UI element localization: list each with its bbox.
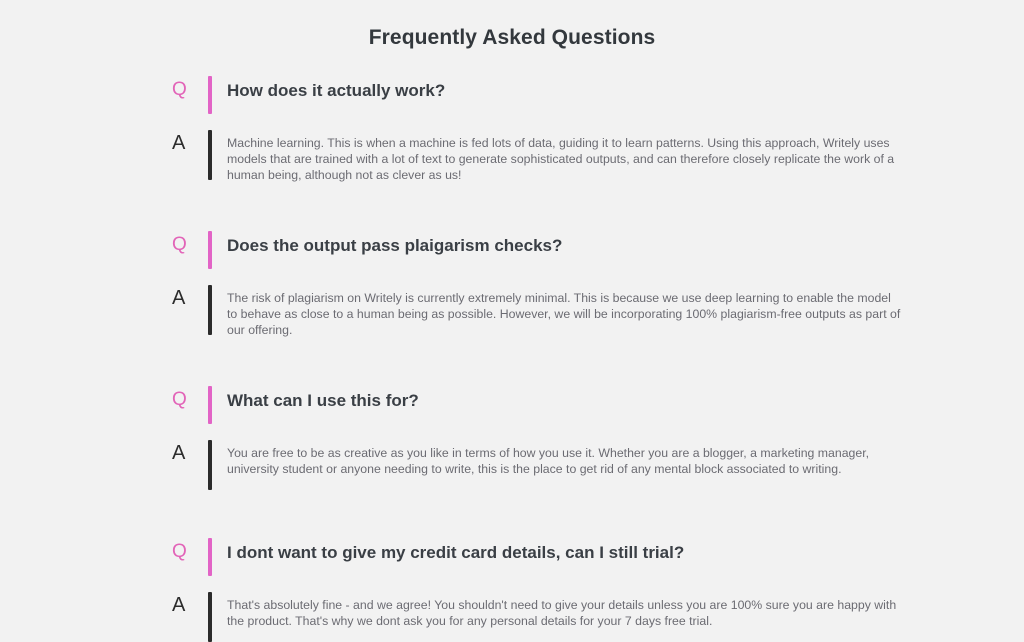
question-marker: Q [164, 235, 187, 254]
faq-answer-row: A The risk of plagiarism on Writely is c… [164, 289, 904, 338]
question-marker-col: Q [164, 390, 208, 409]
answer-content: The risk of plagiarism on Writely is cur… [212, 289, 904, 338]
question-content: What can I use this for? [212, 390, 904, 411]
answer-marker-col: A [164, 444, 208, 463]
question-content: Does the output pass plaigarism checks? [212, 235, 904, 256]
faq-answer-row: A You are free to be as creative as you … [164, 444, 904, 490]
answer-content: You are free to be as creative as you li… [212, 444, 904, 477]
faq-item: Q What can I use this for? A You are fre… [164, 390, 904, 490]
faq-answer-row: A Machine learning. This is when a machi… [164, 134, 904, 183]
answer-marker: A [164, 289, 185, 308]
faq-question-row[interactable]: Q Does the output pass plaigarism checks… [164, 235, 904, 269]
question-marker: Q [164, 80, 187, 99]
faq-answer-row: A That's absolutely fine - and we agree!… [164, 596, 904, 642]
question-content: I dont want to give my credit card detai… [212, 542, 904, 563]
answer-marker-col: A [164, 289, 208, 308]
answer-text: That's absolutely fine - and we agree! Y… [227, 596, 903, 629]
answer-text: The risk of plagiarism on Writely is cur… [227, 289, 903, 338]
answer-content: That's absolutely fine - and we agree! Y… [212, 596, 904, 629]
question-text: Does the output pass plaigarism checks? [227, 235, 904, 256]
faq-question-row[interactable]: Q How does it actually work? [164, 80, 904, 114]
page-title: Frequently Asked Questions [0, 0, 1024, 50]
answer-text: Machine learning. This is when a machine… [227, 134, 903, 183]
question-content: How does it actually work? [212, 80, 904, 101]
question-text: What can I use this for? [227, 390, 904, 411]
faq-question-row[interactable]: Q What can I use this for? [164, 390, 904, 424]
faq-item: Q How does it actually work? A Machine l… [164, 80, 904, 183]
question-text: How does it actually work? [227, 80, 904, 101]
answer-text: You are free to be as creative as you li… [227, 444, 903, 477]
question-marker-col: Q [164, 542, 208, 561]
question-marker: Q [164, 390, 187, 409]
answer-marker: A [164, 444, 185, 463]
faq-item: Q I dont want to give my credit card det… [164, 542, 904, 642]
faq-question-row[interactable]: Q I dont want to give my credit card det… [164, 542, 904, 576]
faq-item: Q Does the output pass plaigarism checks… [164, 235, 904, 338]
question-text: I dont want to give my credit card detai… [227, 542, 904, 563]
faq-page: Frequently Asked Questions Q How does it… [0, 0, 1024, 626]
answer-marker-col: A [164, 596, 208, 615]
question-marker-col: Q [164, 80, 208, 99]
answer-marker: A [164, 134, 185, 153]
question-marker: Q [164, 542, 187, 561]
question-marker-col: Q [164, 235, 208, 254]
faq-list: Q How does it actually work? A Machine l… [164, 80, 904, 642]
answer-marker-col: A [164, 134, 208, 153]
answer-content: Machine learning. This is when a machine… [212, 134, 904, 183]
answer-marker: A [164, 596, 185, 615]
